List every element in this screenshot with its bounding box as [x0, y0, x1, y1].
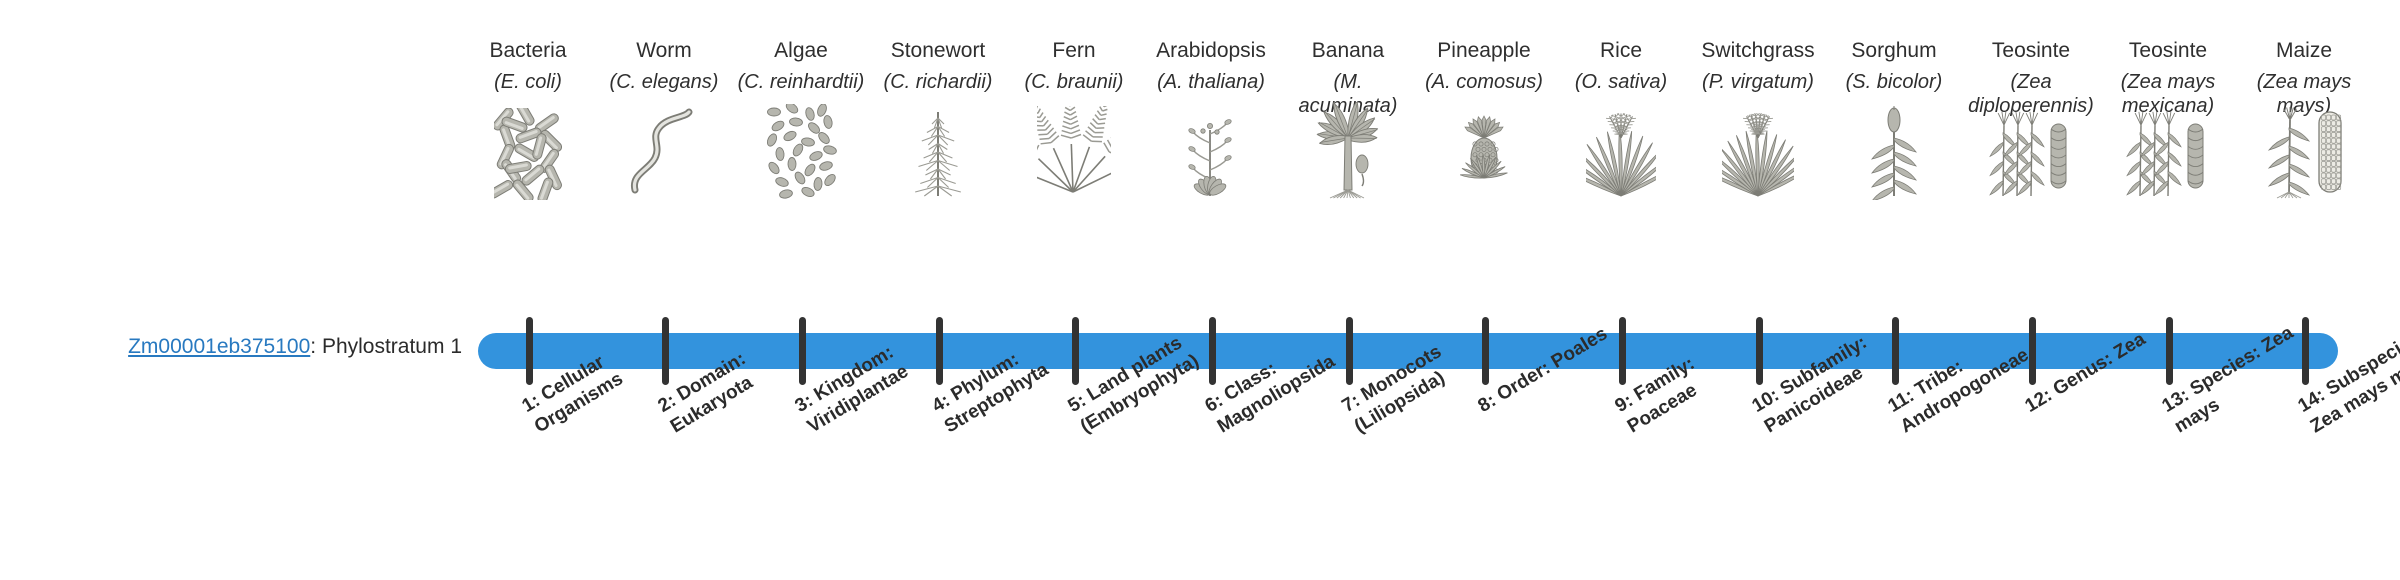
phylostratum-tick[interactable] — [1482, 317, 1489, 385]
phylostratum-label: 6: Class: Magnoliopsida — [1201, 311, 1370, 439]
maize-illustration — [2238, 108, 2370, 200]
phylostratum-tick[interactable] — [526, 317, 533, 385]
phylostratum-label: 5: Land plants (Embryophyta) — [1064, 311, 1233, 439]
phylostratum-tick[interactable] — [2166, 317, 2173, 385]
species-common-name: Stonewort — [872, 38, 1004, 63]
phylostratum-tick[interactable] — [1619, 317, 1626, 385]
pineapple-illustration — [1418, 108, 1550, 200]
species-common-name: Switchgrass — [1692, 38, 1824, 63]
gene-id-link[interactable]: Zm00001eb375100 — [128, 335, 310, 358]
species-common-name: Teosinte — [2102, 38, 2234, 63]
species-common-name: Maize — [2238, 38, 2370, 63]
bacteria-illustration — [462, 108, 594, 200]
species-common-name: Arabidopsis — [1145, 38, 1277, 63]
phylostratum-tick[interactable] — [799, 317, 806, 385]
phylostratum-tick[interactable] — [1346, 317, 1353, 385]
phylostratum-tick[interactable] — [2302, 317, 2309, 385]
species-scientific-name: (P. virgatum) — [1692, 70, 1824, 94]
gene-label-separator: : — [310, 335, 322, 358]
species-common-name: Rice — [1555, 38, 1687, 63]
species-scientific-name: (A. comosus) — [1418, 70, 1550, 94]
species-scientific-name: (A. thaliana) — [1145, 70, 1277, 94]
algae-illustration — [735, 108, 867, 200]
species-common-name: Teosinte — [1965, 38, 2097, 63]
species-common-name: Banana — [1282, 38, 1414, 63]
switchgrass-illustration — [1692, 108, 1824, 200]
gene-phylostratum-value: Phylostratum 1 — [322, 335, 462, 358]
species-common-name: Bacteria — [462, 38, 594, 63]
species-common-name: Pineapple — [1418, 38, 1550, 63]
phylostratum-label: 3: Kingdom: Viridiplantae — [791, 311, 960, 439]
phylostratum-tick[interactable] — [2029, 317, 2036, 385]
gene-phylostratum-label: Zm00001eb375100: Phylostratum 1 — [0, 334, 462, 360]
phylostratum-tick[interactable] — [1209, 317, 1216, 385]
phylostratum-tick[interactable] — [1072, 317, 1079, 385]
phylostratum-figure: Zm00001eb375100: Phylostratum 1 Bacteria… — [0, 0, 2400, 580]
stonewort-illustration — [872, 108, 1004, 200]
teosinte-diploperennis-illustration — [1965, 108, 2097, 200]
arabidopsis-illustration — [1145, 108, 1277, 200]
phylostratum-label: 2: Domain: Eukaryota — [654, 311, 823, 439]
sorghum-illustration — [1828, 108, 1960, 200]
banana-illustration — [1282, 108, 1414, 200]
species-scientific-name: (O. sativa) — [1555, 70, 1687, 94]
phylostratum-tick[interactable] — [662, 317, 669, 385]
teosinte-mexicana-illustration — [2102, 108, 2234, 200]
fern-illustration — [1008, 108, 1140, 200]
phylostratum-tick[interactable] — [1892, 317, 1899, 385]
species-common-name: Worm — [598, 38, 730, 63]
species-scientific-name: (C. richardii) — [872, 70, 1004, 94]
worm-illustration — [598, 108, 730, 200]
species-scientific-name: (C. reinhardtii) — [735, 70, 867, 94]
phylostratum-tick[interactable] — [1756, 317, 1763, 385]
rice-illustration — [1555, 108, 1687, 200]
species-common-name: Algae — [735, 38, 867, 63]
species-common-name: Sorghum — [1828, 38, 1960, 63]
species-common-name: Fern — [1008, 38, 1140, 63]
species-scientific-name: (C. braunii) — [1008, 70, 1140, 94]
species-scientific-name: (C. elegans) — [598, 70, 730, 94]
phylostratum-label: 11: Tribe: Andropogoneae — [1884, 311, 2053, 439]
phylostratum-label: 9: Family: Poaceae — [1611, 311, 1780, 439]
species-scientific-name: (E. coli) — [462, 70, 594, 94]
species-scientific-name: (S. bicolor) — [1828, 70, 1960, 94]
phylostratum-tick[interactable] — [936, 317, 943, 385]
